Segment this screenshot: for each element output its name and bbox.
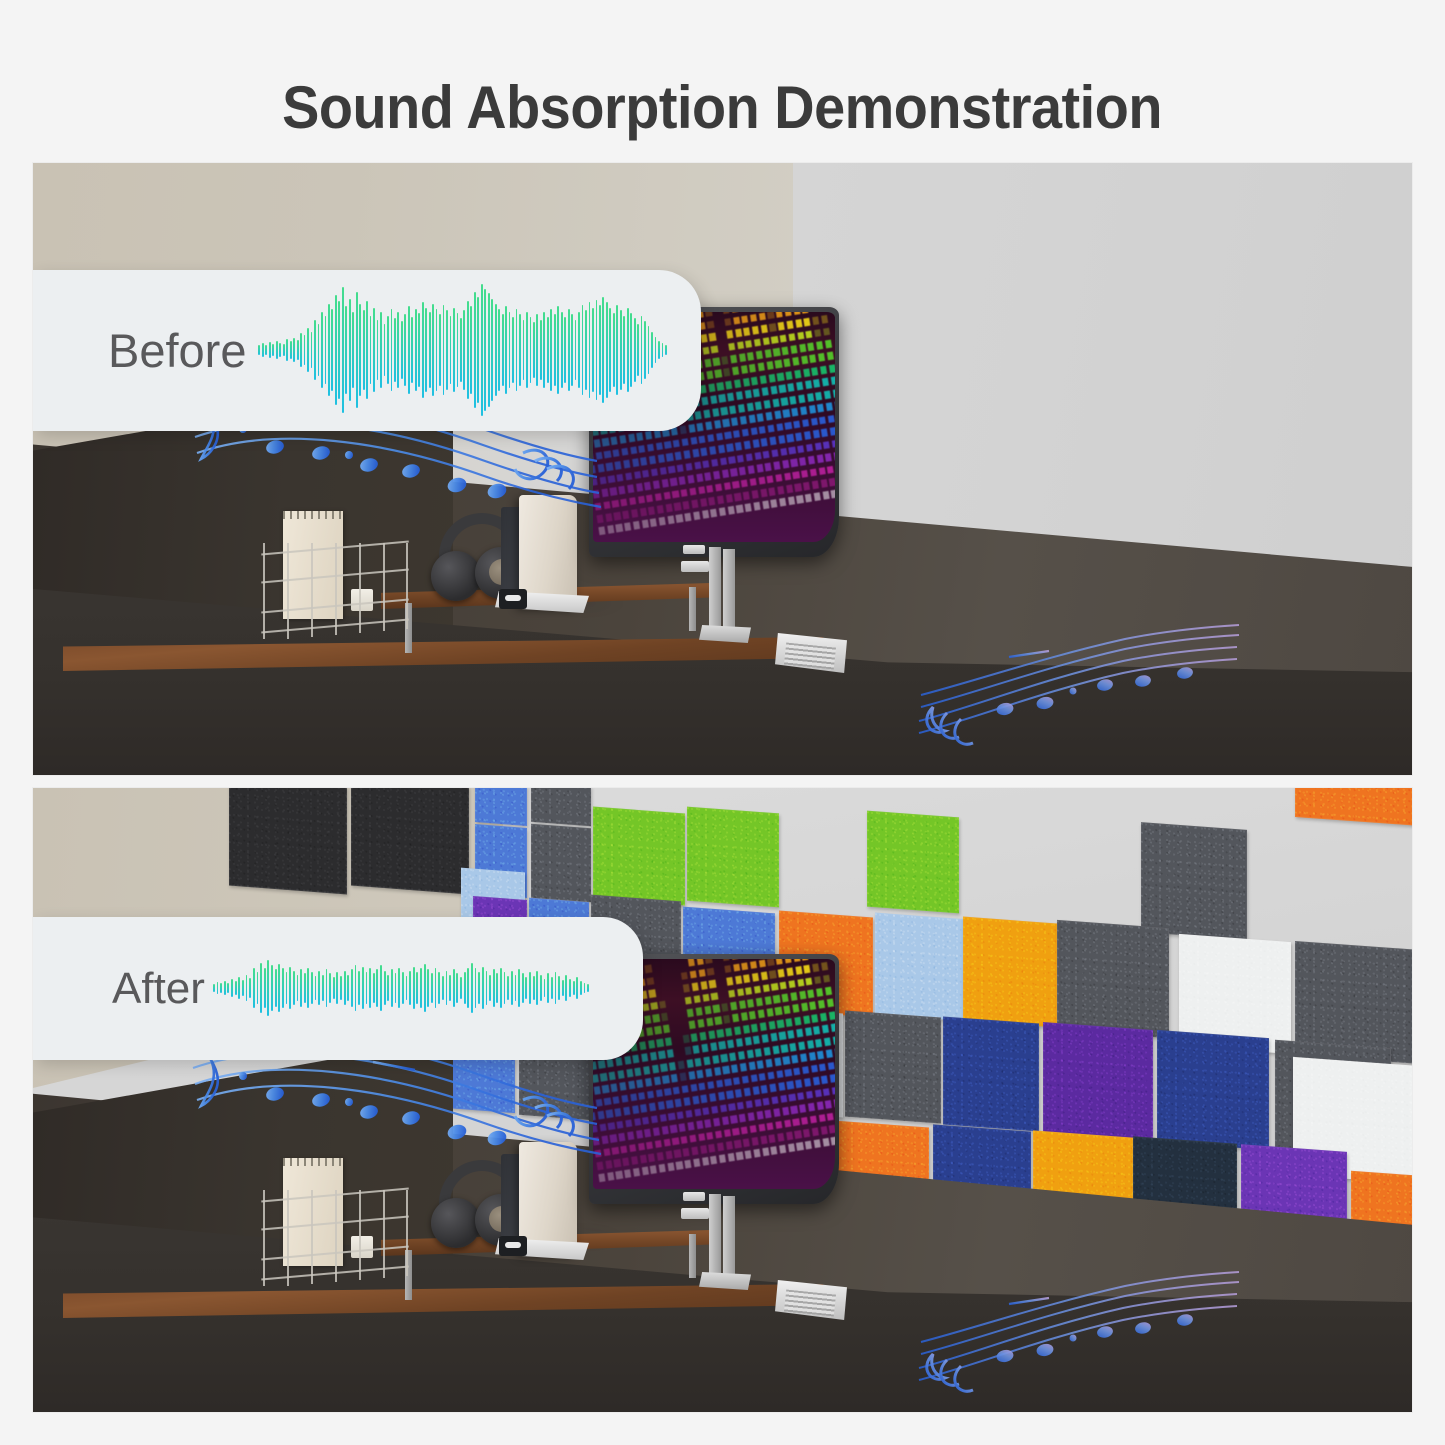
equalizer-cell <box>759 426 766 435</box>
equalizer-cell <box>743 1139 750 1148</box>
equalizer-cell <box>613 449 620 458</box>
waveform-bar <box>373 973 375 1002</box>
equalizer-cell <box>704 410 711 419</box>
equalizer-cell <box>733 430 740 439</box>
acoustic-panel-light-blue <box>875 913 969 1022</box>
equalizer-cell <box>758 363 765 372</box>
waveform-bar <box>335 295 337 406</box>
equalizer-cell <box>704 359 711 368</box>
equalizer-cell <box>806 977 813 986</box>
equalizer-cell <box>776 1070 783 1079</box>
equalizer-cell <box>761 325 768 334</box>
waveform-bar <box>380 965 382 1010</box>
equalizer-cell <box>744 1088 751 1097</box>
equalizer-cell <box>756 998 763 1007</box>
equalizer-cell <box>817 455 824 464</box>
equalizer-cell <box>804 318 811 327</box>
equalizer-cell <box>615 461 622 470</box>
equalizer-cell <box>778 436 785 445</box>
equalizer-cell <box>681 1136 688 1145</box>
equalizer-cell <box>758 1124 765 1133</box>
equalizer-cell <box>834 1099 835 1108</box>
equalizer-cell <box>666 1151 673 1160</box>
equalizer-cell <box>693 1046 700 1055</box>
equalizer-cell <box>620 435 627 444</box>
equalizer-cell <box>744 328 751 337</box>
equalizer-cell <box>696 474 703 483</box>
equalizer-cell <box>750 961 757 970</box>
equalizer-cell <box>625 472 632 481</box>
waveform-bar <box>384 324 386 377</box>
equalizer-cell <box>689 1021 696 1030</box>
equalizer-cell <box>673 440 680 449</box>
equalizer-cell <box>700 1145 707 1154</box>
equalizer-cell <box>598 1061 605 1070</box>
waveform-bar <box>460 977 462 998</box>
waveform-bar <box>344 971 346 1006</box>
equalizer-cell <box>767 475 774 484</box>
equalizer-cell <box>621 1145 628 1154</box>
equalizer-cell <box>597 1162 604 1171</box>
equalizer-cell <box>723 959 730 962</box>
waveform-bar <box>242 980 244 996</box>
equalizer-cell <box>752 973 759 982</box>
waveform-bar <box>627 308 629 392</box>
equalizer-cell <box>617 474 624 483</box>
equalizer-cell <box>805 494 812 503</box>
equalizer-cell <box>797 332 804 341</box>
equalizer-cell <box>806 444 813 453</box>
equalizer-cell <box>593 1062 597 1071</box>
equalizer-cell <box>829 1125 835 1134</box>
equalizer-cell <box>636 483 643 492</box>
equalizer-cell <box>749 1062 756 1071</box>
equalizer-cell <box>743 378 750 387</box>
waveform-bar <box>264 968 266 1008</box>
equalizer-cell <box>690 1084 697 1093</box>
waveform-bar <box>616 305 618 395</box>
equalizer-cell <box>736 392 743 401</box>
waveform-bar <box>271 965 273 1010</box>
monitor-ports <box>683 545 705 554</box>
equalizer-cell <box>651 1115 658 1124</box>
equalizer-cell <box>698 486 705 495</box>
equalizer-cell <box>655 1140 662 1149</box>
equalizer-cell <box>719 1155 726 1164</box>
waveform-bar <box>481 284 483 416</box>
equalizer-cell <box>623 460 630 469</box>
equalizer-cell <box>809 406 816 415</box>
equalizer-cell <box>745 1037 752 1046</box>
equalizer-cell <box>706 422 713 431</box>
equalizer-cell <box>608 475 615 484</box>
equalizer-cell <box>806 330 813 339</box>
waveform-bar <box>358 971 360 1006</box>
equalizer-cell <box>672 1137 679 1146</box>
equalizer-cell <box>726 977 733 986</box>
equalizer-cell <box>769 1021 776 1030</box>
equalizer-cell <box>807 1040 814 1049</box>
equalizer-cell <box>676 1162 683 1171</box>
equalizer-cell <box>776 474 783 483</box>
equalizer-cell <box>789 1093 796 1102</box>
equalizer-cell <box>729 1103 736 1112</box>
waveform-bar <box>322 975 324 1002</box>
equalizer-cell <box>720 457 727 466</box>
equalizer-cell <box>598 1111 605 1120</box>
equalizer-cell <box>681 489 688 498</box>
waveform-bar <box>562 980 564 996</box>
equalizer-cell <box>688 959 695 967</box>
equalizer-cell <box>595 1149 602 1158</box>
equalizer-cell <box>764 400 771 409</box>
equalizer-cell <box>724 1129 731 1138</box>
equalizer-cell <box>599 527 606 536</box>
equalizer-cell <box>721 1054 728 1063</box>
after-label-card: After <box>33 917 643 1060</box>
waveform-bar <box>540 975 542 1002</box>
equalizer-cell <box>766 412 773 421</box>
equalizer-cell <box>657 1152 664 1161</box>
waveform-bar <box>380 312 382 389</box>
equalizer-cell <box>767 1009 774 1018</box>
equalizer-cell <box>790 396 797 405</box>
equalizer-cell <box>814 329 821 338</box>
equalizer-cell <box>754 1099 761 1108</box>
equalizer-cell <box>759 313 766 322</box>
equalizer-cell <box>778 969 785 978</box>
equalizer-cell <box>772 449 779 458</box>
equalizer-cell <box>714 420 721 429</box>
equalizer-cell <box>611 437 618 446</box>
equalizer-cell <box>688 1122 695 1131</box>
equalizer-cell <box>603 1148 610 1157</box>
equalizer-cell <box>797 1143 804 1152</box>
equalizer-cell <box>816 392 823 401</box>
equalizer-cell <box>732 367 739 376</box>
waveform-bar <box>507 976 509 1000</box>
equalizer-cell <box>691 1033 698 1042</box>
equalizer-cell <box>810 468 817 477</box>
equalizer-cell <box>724 369 731 378</box>
equalizer-cell <box>760 489 767 498</box>
equalizer-cell <box>623 1158 630 1167</box>
equalizer-cell <box>655 493 662 502</box>
equalizer-cell <box>649 990 656 999</box>
equalizer-cell <box>826 403 833 412</box>
waveform-bar <box>286 972 288 1004</box>
equalizer-cell <box>657 1039 664 1048</box>
waveform-bar <box>493 969 495 1006</box>
equalizer-cell <box>829 1012 835 1021</box>
equalizer-cell <box>728 1154 735 1163</box>
equalizer-cell <box>767 312 774 320</box>
after-waveform <box>205 917 643 1060</box>
equalizer-cell <box>777 1020 784 1029</box>
equalizer-cell <box>820 1013 827 1022</box>
waveform-bar <box>249 978 251 998</box>
equalizer-cell <box>756 1111 763 1120</box>
equalizer-cell <box>787 321 794 330</box>
equalizer-cell <box>690 437 697 446</box>
equalizer-cell <box>688 1072 695 1081</box>
monitor-ports <box>681 1208 709 1219</box>
equalizer-cell <box>745 1151 752 1160</box>
waveform-bar <box>283 344 285 356</box>
equalizer-cell <box>817 404 824 413</box>
equalizer-cell <box>611 1084 618 1093</box>
equalizer-cell <box>648 1040 655 1049</box>
equalizer-cell <box>770 437 777 446</box>
equalizer-cell <box>659 1051 666 1060</box>
equalizer-cell <box>803 1016 810 1025</box>
equalizer-cell <box>619 1133 626 1142</box>
equalizer-cell <box>774 1058 781 1067</box>
equalizer-cell <box>812 964 819 973</box>
equalizer-cell <box>680 1073 687 1082</box>
waveform-bar <box>260 963 262 1014</box>
waveform-bar <box>253 968 255 1008</box>
equalizer-cell <box>637 1080 644 1089</box>
equalizer-cell <box>593 490 600 499</box>
equalizer-cell <box>756 464 763 473</box>
equalizer-cell <box>737 455 744 464</box>
notebook <box>283 1158 343 1266</box>
treated-room-scene <box>33 788 1412 1412</box>
equalizer-cell <box>804 965 811 974</box>
waveform-bar <box>482 967 484 1010</box>
equalizer-cell <box>816 988 823 997</box>
equalizer-cell <box>612 1147 619 1156</box>
equalizer-cell <box>711 459 718 468</box>
equalizer-cell <box>763 1098 770 1107</box>
equalizer-cell <box>801 356 808 365</box>
waveform-bar <box>511 971 513 1006</box>
equalizer-cell <box>722 1003 729 1012</box>
equalizer-cell <box>658 455 665 464</box>
equalizer-cell <box>682 1085 689 1094</box>
waveform-bar <box>568 309 570 391</box>
waveform-bar <box>592 308 594 392</box>
waveform-bar <box>351 969 353 1006</box>
equalizer-cell <box>707 968 714 977</box>
acoustic-panel-amber <box>963 917 1057 1028</box>
equalizer-cell <box>794 1017 801 1026</box>
equalizer-cell <box>717 496 724 505</box>
equalizer-cell <box>769 971 776 980</box>
equalizer-cell <box>799 991 806 1000</box>
waveform-bar <box>522 973 524 1002</box>
equalizer-cell <box>622 1095 629 1104</box>
equalizer-cell <box>759 1073 766 1082</box>
equalizer-cell <box>630 446 637 455</box>
equalizer-cell <box>632 1106 639 1115</box>
equalizer-cell <box>716 433 723 442</box>
equalizer-cell <box>794 421 801 430</box>
equalizer-cell <box>784 359 791 368</box>
equalizer-cell <box>813 1077 820 1086</box>
equalizer-cell <box>800 1054 807 1063</box>
equalizer-cell <box>725 1078 732 1087</box>
waveform-bar <box>336 972 338 1004</box>
waveform-bar <box>282 968 284 1008</box>
equalizer-cell <box>782 1107 789 1116</box>
acoustic-panel-charcoal <box>351 788 469 894</box>
waveform-bar <box>355 965 357 1010</box>
equalizer-cell <box>724 482 731 491</box>
waveform-bar <box>662 343 664 356</box>
equalizer-cell <box>685 513 692 522</box>
equalizer-cell <box>597 515 604 524</box>
equalizer-cell <box>615 1108 622 1117</box>
equalizer-cell <box>734 1140 741 1149</box>
equalizer-cell <box>640 508 647 517</box>
waveform-bar <box>311 332 313 369</box>
equalizer-cell <box>682 438 689 447</box>
equalizer-cell <box>693 1159 700 1168</box>
equalizer-cell <box>742 429 749 438</box>
equalizer-cell <box>733 964 740 973</box>
equalizer-cell <box>668 1163 675 1172</box>
equalizer-cell <box>683 984 690 993</box>
equalizer-cell <box>741 1013 748 1022</box>
equalizer-cell <box>627 1132 634 1141</box>
equalizer-cell <box>795 483 802 492</box>
equalizer-cell <box>830 1074 835 1083</box>
equalizer-cell <box>677 464 684 473</box>
waveform-bar <box>457 313 459 387</box>
equalizer-cell <box>750 314 757 323</box>
equalizer-cell <box>602 1085 609 1094</box>
equalizer-cell <box>715 370 722 379</box>
monitor-stand-neck <box>723 1196 735 1282</box>
equalizer-cell <box>733 481 740 490</box>
waveform-bar <box>297 975 299 1002</box>
equalizer-cell <box>821 479 828 488</box>
title-bar: Sound Absorption Demonstration <box>0 62 1445 152</box>
equalizer-cell <box>769 324 776 333</box>
equalizer-cell <box>708 434 715 443</box>
equalizer-cell <box>772 1096 779 1105</box>
equalizer-cell <box>748 1113 755 1122</box>
equalizer-cell <box>599 1174 606 1183</box>
waveform-bar <box>525 977 527 998</box>
waveform-bar <box>478 972 480 1004</box>
waveform-bar <box>431 973 433 1002</box>
equalizer-cell <box>618 1070 625 1079</box>
equalizer-cell <box>594 440 601 449</box>
acoustic-panel-blue <box>475 788 527 826</box>
equalizer-cell <box>763 451 770 460</box>
waveform-bar <box>446 971 448 1006</box>
equalizer-cell <box>735 1089 742 1098</box>
waveform-bar <box>416 972 418 1004</box>
equalizer-cell <box>791 1106 798 1115</box>
equalizer-cell <box>634 471 641 480</box>
equalizer-cell <box>758 477 765 486</box>
equalizer-cell <box>739 354 746 363</box>
equalizer-cell <box>801 1117 808 1126</box>
waveform-bar <box>397 312 399 389</box>
equalizer-cell <box>782 994 789 1003</box>
equalizer-cell <box>773 1046 780 1055</box>
equalizer-cell <box>786 485 793 494</box>
equalizer-cell <box>769 374 776 383</box>
equalizer-cell <box>764 1047 771 1056</box>
waveform-bar <box>489 975 491 1002</box>
equalizer-cell <box>806 1091 813 1100</box>
waveform-bar <box>606 302 608 397</box>
equalizer-cell <box>813 430 820 439</box>
equalizer-cell <box>731 468 738 477</box>
waveform-bar <box>578 312 580 389</box>
equalizer-cell <box>742 315 749 324</box>
equalizer-cell <box>788 1031 795 1040</box>
equalizer-cell <box>821 429 828 438</box>
equalizer-cell <box>733 1128 740 1137</box>
equalizer-cell <box>784 472 791 481</box>
equalizer-cell <box>796 1029 803 1038</box>
equalizer-cell <box>622 448 629 457</box>
equalizer-cell <box>788 497 795 506</box>
equalizer-cell <box>729 456 736 465</box>
waveform-bar <box>502 314 504 385</box>
equalizer-cell <box>602 438 609 447</box>
equalizer-cell <box>722 356 729 365</box>
waveform-bar <box>557 306 559 393</box>
equalizer-cell <box>649 1103 656 1112</box>
equalizer-cell <box>715 1017 722 1026</box>
equalizer-cell <box>593 1100 594 1109</box>
equalizer-cell <box>708 384 715 393</box>
equalizer-cell <box>795 319 802 328</box>
equalizer-cell <box>607 1173 614 1182</box>
equalizer-cell <box>814 1027 821 1036</box>
after-label: After <box>112 964 205 1014</box>
waveform-bar <box>246 975 248 1000</box>
equalizer-cell <box>760 1136 767 1145</box>
equalizer-cell <box>691 1147 698 1156</box>
equalizer-cell <box>598 464 605 473</box>
equalizer-cell <box>827 466 834 475</box>
equalizer-cell <box>799 344 806 353</box>
equalizer-cell <box>737 1102 744 1111</box>
waveform-bar <box>213 984 215 992</box>
equalizer-cell <box>666 504 673 513</box>
equalizer-cell <box>805 381 812 390</box>
waveform-bar <box>580 981 582 996</box>
equalizer-cell <box>749 1011 756 1020</box>
waveform-bar <box>432 304 434 396</box>
equalizer-cell <box>780 981 787 990</box>
waveform-bar <box>609 308 611 392</box>
waveform-bar <box>420 968 422 1008</box>
equalizer-cell <box>631 1156 638 1165</box>
equalizer-cell <box>727 444 734 453</box>
waveform-bar <box>276 341 278 359</box>
equalizer-cell <box>593 1125 598 1134</box>
equalizer-cell <box>695 1058 702 1067</box>
equalizer-cell <box>705 472 712 481</box>
equalizer-cell <box>691 500 698 509</box>
equalizer-cell <box>646 1028 653 1037</box>
waveform-bar <box>443 305 445 395</box>
equalizer-cell <box>593 1113 596 1122</box>
equalizer-cell <box>649 456 656 465</box>
waveform-bar <box>304 335 306 364</box>
equalizer-cell <box>746 1100 753 1109</box>
equalizer-cell <box>723 419 730 428</box>
